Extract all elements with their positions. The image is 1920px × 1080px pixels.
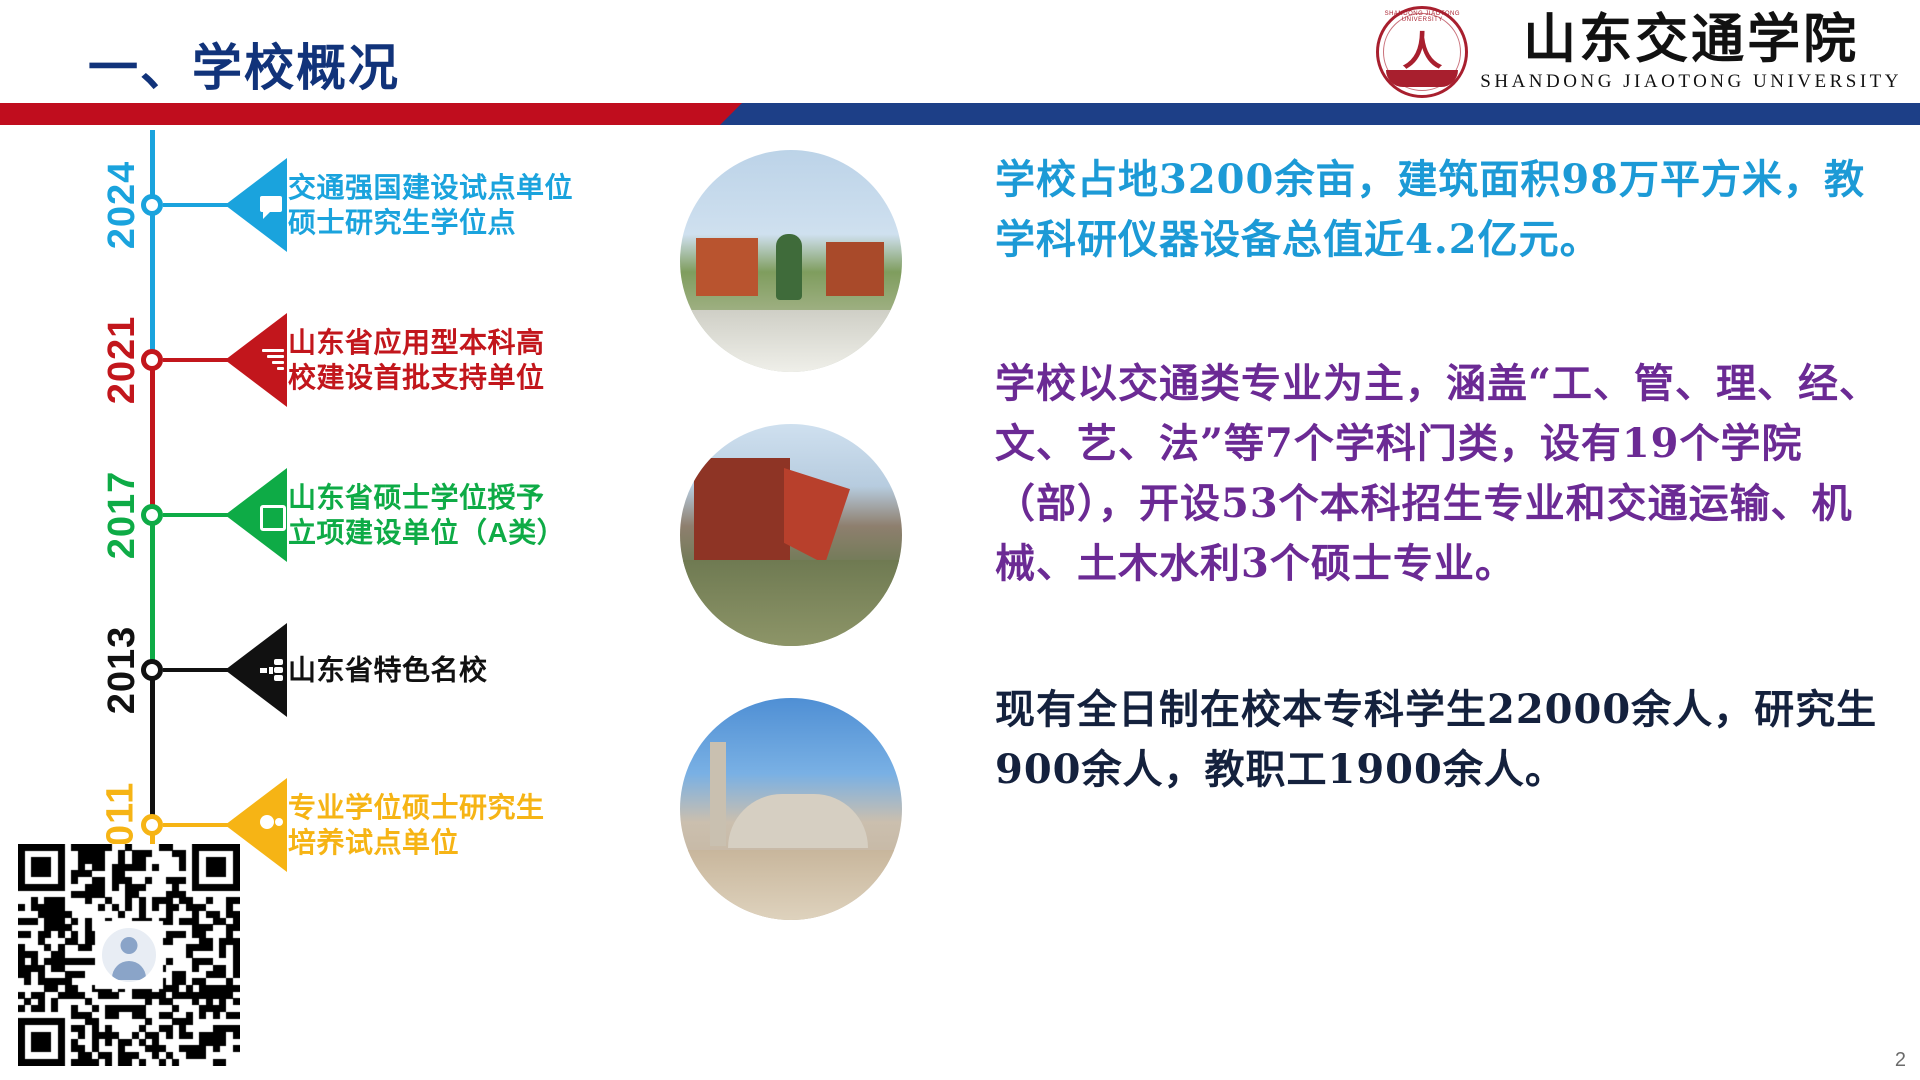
crest-band [1386,70,1458,87]
photo-building-left [696,238,758,296]
photo-arch [728,794,868,848]
photo-tower [710,742,726,846]
photo-column [680,150,920,972]
paragraph-campus-area: 学校占地3200余亩，建筑面积98万平方米，教学科研仪器设备总值近4.2亿元。 [995,150,1890,270]
timeline-node-marker [141,659,163,681]
campus-library-lake-photo [680,424,902,646]
university-name-en: SHANDONG JIAOTONG UNIVERSITY [1480,72,1902,91]
header-rule-red [0,103,760,125]
timeline-node-marker [141,504,163,526]
timeline-item[interactable]: 2013山东省特色名校 [0,615,620,725]
page-number: 2 [1895,1049,1906,1072]
qr-code[interactable] [18,844,240,1066]
paragraph-enrollment: 现有全日制在校本专科学生22000余人，研究生900余人，教职工1900余人。 [995,680,1890,800]
header-rule-blue [742,103,1920,125]
photo-building-right [826,242,884,296]
timeline-label: 交通强国建设试点单位 硕士研究生学位点 [288,170,573,240]
avatar-head [121,937,138,954]
timeline-connector [163,358,230,362]
chat-bubble-icon [260,192,286,218]
campus-gate-photo [680,150,902,372]
photo-lake [680,560,902,646]
timeline: 2024交通强国建设试点单位 硕士研究生学位点2021山东省应用型本科高 校建设… [0,130,620,870]
photo-tree [776,234,802,300]
timeline-connector [163,203,230,207]
timeline-year: 2021 [101,316,144,405]
timeline-item[interactable]: 2017山东省硕士学位授予 立项建设单位（A类） [0,460,620,570]
photo-sail-sculpture [784,468,850,564]
university-name-cn: 山东交通学院 [1523,13,1859,66]
timeline-node-marker [141,349,163,371]
timeline-node-marker [141,194,163,216]
photo-library-building [694,458,790,562]
timeline-year: 2017 [101,471,144,560]
timeline-node-marker [141,814,163,836]
photo-plaza-ground [680,850,902,920]
university-crest-icon: SHANDONG JIAOTONG UNIVERSITY 人 [1376,6,1468,98]
network-nodes-icon [260,657,286,683]
slide-root: 一、学校概况 SHANDONG JIAOTONG UNIVERSITY 人 山东… [0,0,1920,1080]
user-avatar-icon [99,925,159,985]
page-title: 一、学校概况 [88,28,400,100]
square-outline-icon [260,502,286,528]
avatar-body [112,961,146,980]
photo-road [680,310,902,372]
timeline-item[interactable]: 2021山东省应用型本科高 校建设首批支持单位 [0,305,620,415]
university-name-block: 山东交通学院 SHANDONG JIAOTONG UNIVERSITY [1480,13,1902,91]
timeline-label: 山东省应用型本科高 校建设首批支持单位 [288,325,545,395]
crest-arc-text: SHANDONG JIAOTONG UNIVERSITY [1376,11,1468,23]
crest-glyph: 人 [1402,32,1442,72]
timeline-year: 2013 [101,626,144,715]
timeline-label: 山东省特色名校 [288,653,488,688]
timeline-year: 2024 [101,161,144,250]
timeline-label: 专业学位硕士研究生 培养试点单位 [288,790,545,860]
timeline-connector [163,668,230,672]
timeline-connector [163,823,230,827]
timeline-item[interactable]: 2024交通强国建设试点单位 硕士研究生学位点 [0,150,620,260]
bulb-dots-icon [260,812,286,838]
description-column: 学校占地3200余亩，建筑面积98万平方米，教学科研仪器设备总值近4.2亿元。 … [995,150,1890,800]
campus-plaza-photo [680,698,902,920]
paragraph-disciplines: 学校以交通类专业为主，涵盖“工、管、理、经、文、艺、法”等7个学科门类，设有19… [995,354,1890,594]
timeline-label: 山东省硕士学位授予 立项建设单位（A类） [288,480,565,550]
timeline-connector [163,513,230,517]
university-logo: SHANDONG JIAOTONG UNIVERSITY 人 山东交通学院 SH… [1376,6,1902,98]
signal-bars-icon [260,347,286,373]
